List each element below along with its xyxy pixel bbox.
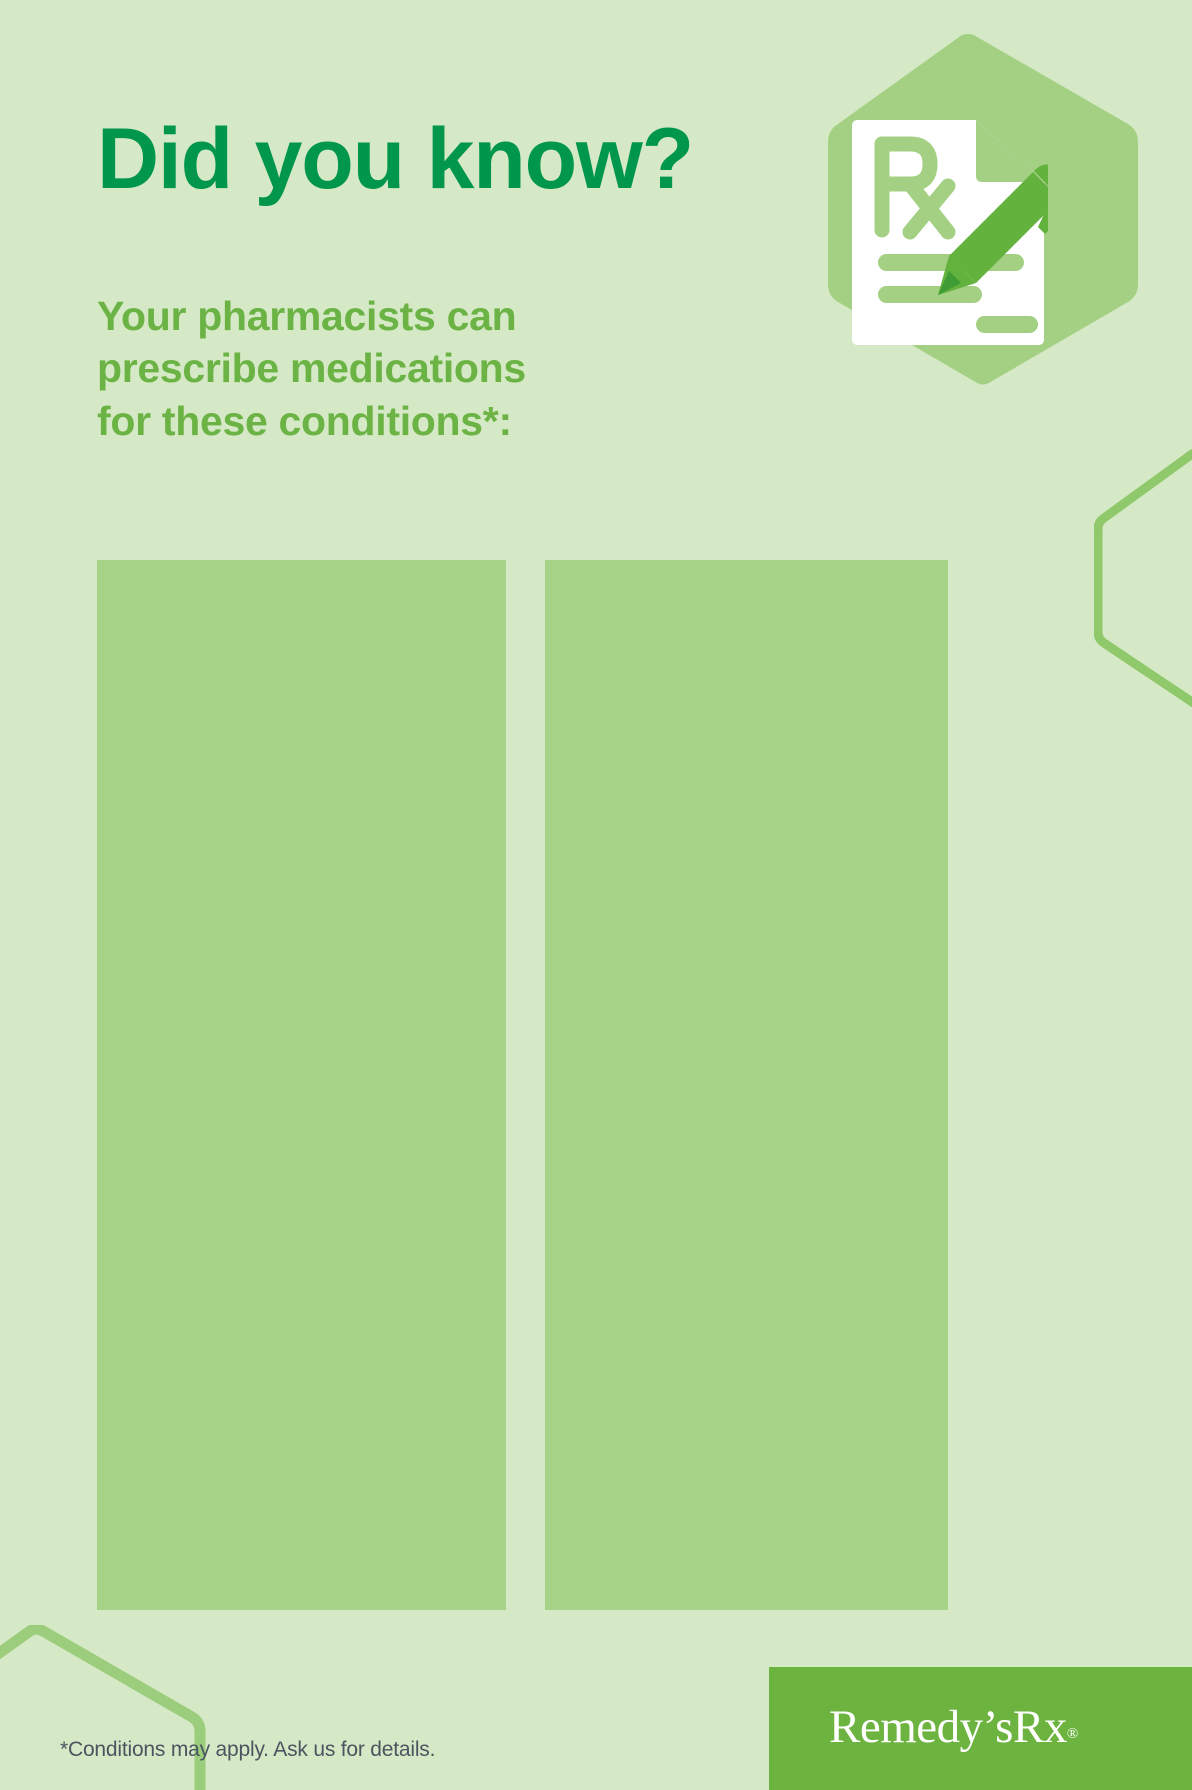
footnote-text: *Conditions may apply. Ask us for detail…: [60, 1738, 435, 1762]
conditions-panel-left: [97, 560, 506, 1610]
page-title: Did you know?: [97, 116, 693, 202]
registered-trademark-icon: ®: [1067, 1726, 1078, 1742]
poster-canvas: Did you know? Your pharmacists can presc…: [0, 0, 1192, 1790]
subheading-line-2: prescribe medications: [97, 342, 526, 394]
conditions-panel-right-body: [545, 560, 948, 628]
prescription-document-icon: [848, 120, 1048, 345]
subheading-line-3: for these conditions*:: [97, 395, 526, 447]
hexagon-outline-icon: [1094, 448, 1192, 713]
conditions-panel-left-body: [97, 560, 506, 628]
subheading-line-1: Your pharmacists can: [97, 290, 526, 342]
subheading: Your pharmacists can prescribe medicatio…: [97, 290, 526, 447]
brand-logo-block: Remedy’sRx®: [769, 1667, 1192, 1790]
brand-wordmark-text: Remedy’sRx: [829, 1701, 1067, 1753]
conditions-panel-right: [545, 560, 948, 1610]
brand-wordmark: Remedy’sRx®: [829, 1700, 1078, 1754]
hexagon-outline-icon: [0, 1625, 206, 1790]
